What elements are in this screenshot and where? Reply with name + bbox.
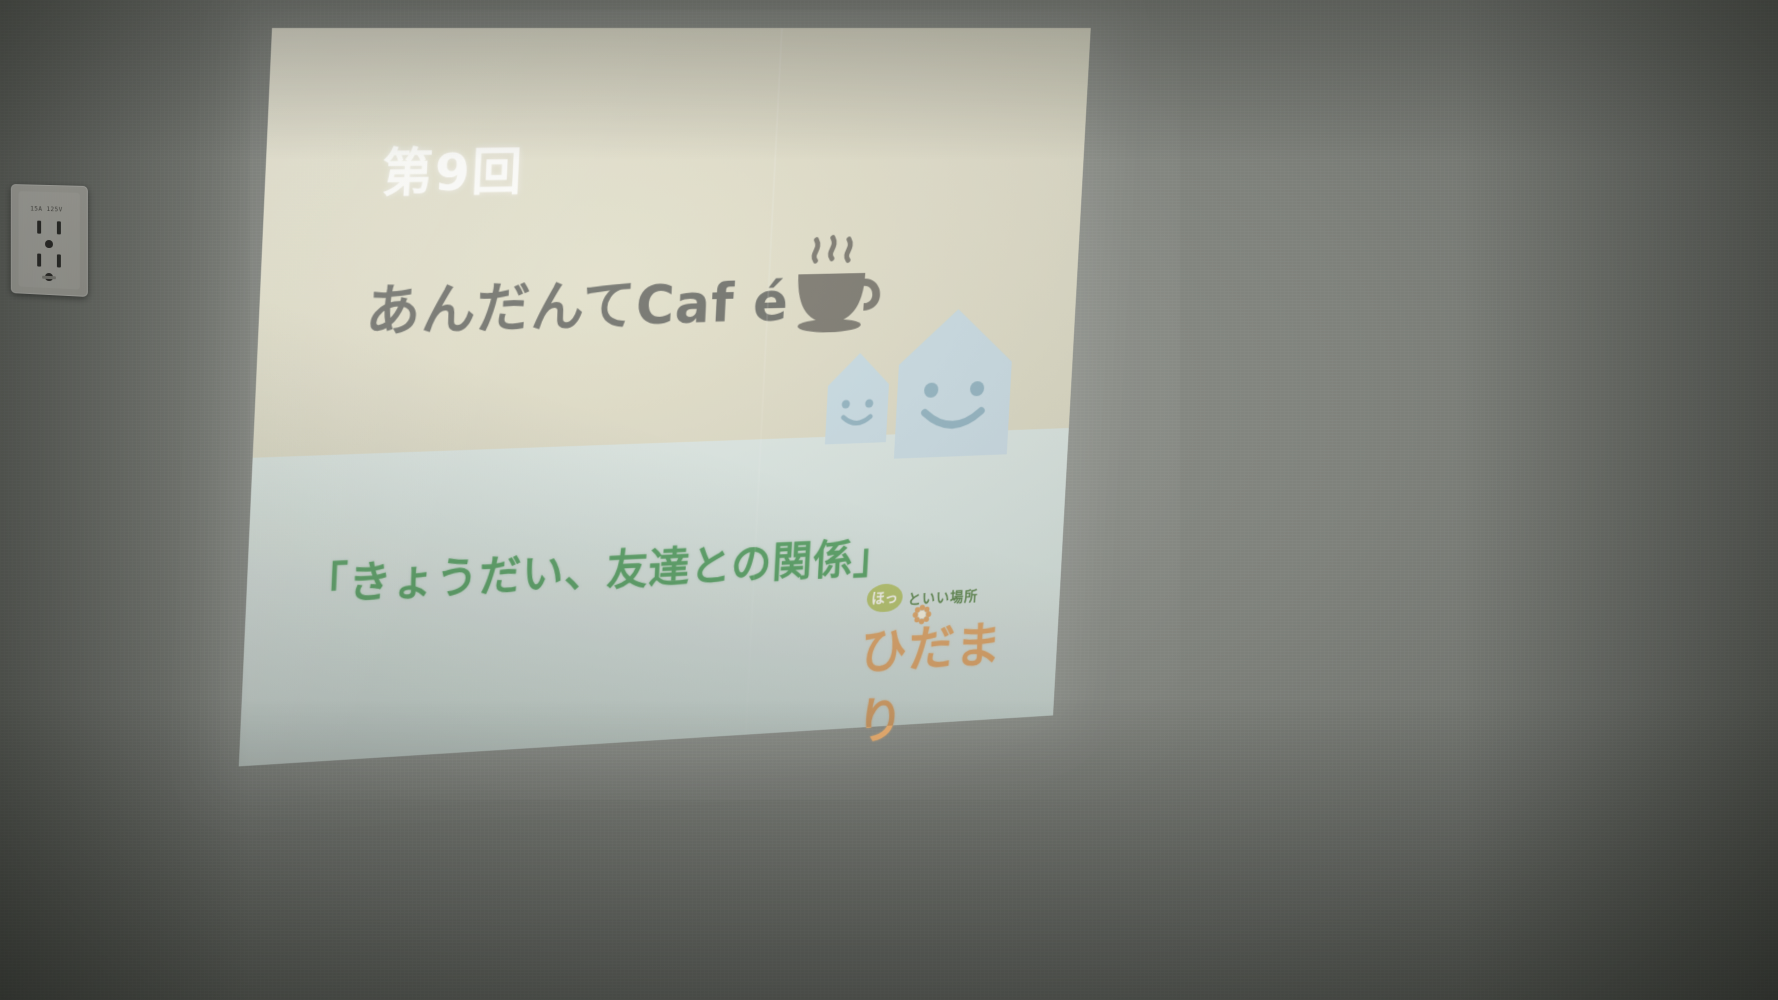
projection-area: 第9回 あんだんてCaf é bbox=[0, 0, 1778, 1000]
house-smiley-group bbox=[816, 307, 1055, 473]
photo-scene: 15A 125V 第9回 あんだんてCaf é bbox=[0, 0, 1778, 1000]
logo-name-text: ひだまり bbox=[855, 603, 1047, 753]
outlet-socket-top[interactable] bbox=[32, 218, 66, 249]
episode-number-badge: 第9回 bbox=[381, 131, 526, 206]
socket-slot-left bbox=[37, 221, 41, 234]
house-smiley-small-icon bbox=[825, 352, 891, 444]
outlet-rating-label: 15A 125V bbox=[30, 205, 72, 213]
hidamari-logo: ほっ といい場所 ひだまり bbox=[859, 574, 1049, 686]
socket-ground-hole bbox=[45, 240, 53, 248]
socket-slot-right bbox=[57, 221, 61, 234]
socket-slot-left bbox=[37, 254, 41, 267]
outlet-screw bbox=[42, 276, 56, 280]
logo-tagline-accent: ほっ bbox=[871, 587, 899, 608]
house-smiley-large-icon bbox=[894, 308, 1015, 459]
socket-slot-right bbox=[57, 254, 61, 267]
wall-power-outlet[interactable]: 15A 125V bbox=[11, 184, 88, 297]
outlet-faceplate: 15A 125V bbox=[19, 191, 80, 289]
slide-title: あんだんてCaf é bbox=[364, 258, 791, 346]
presentation-slide[interactable]: 第9回 あんだんてCaf é bbox=[239, 28, 1091, 766]
